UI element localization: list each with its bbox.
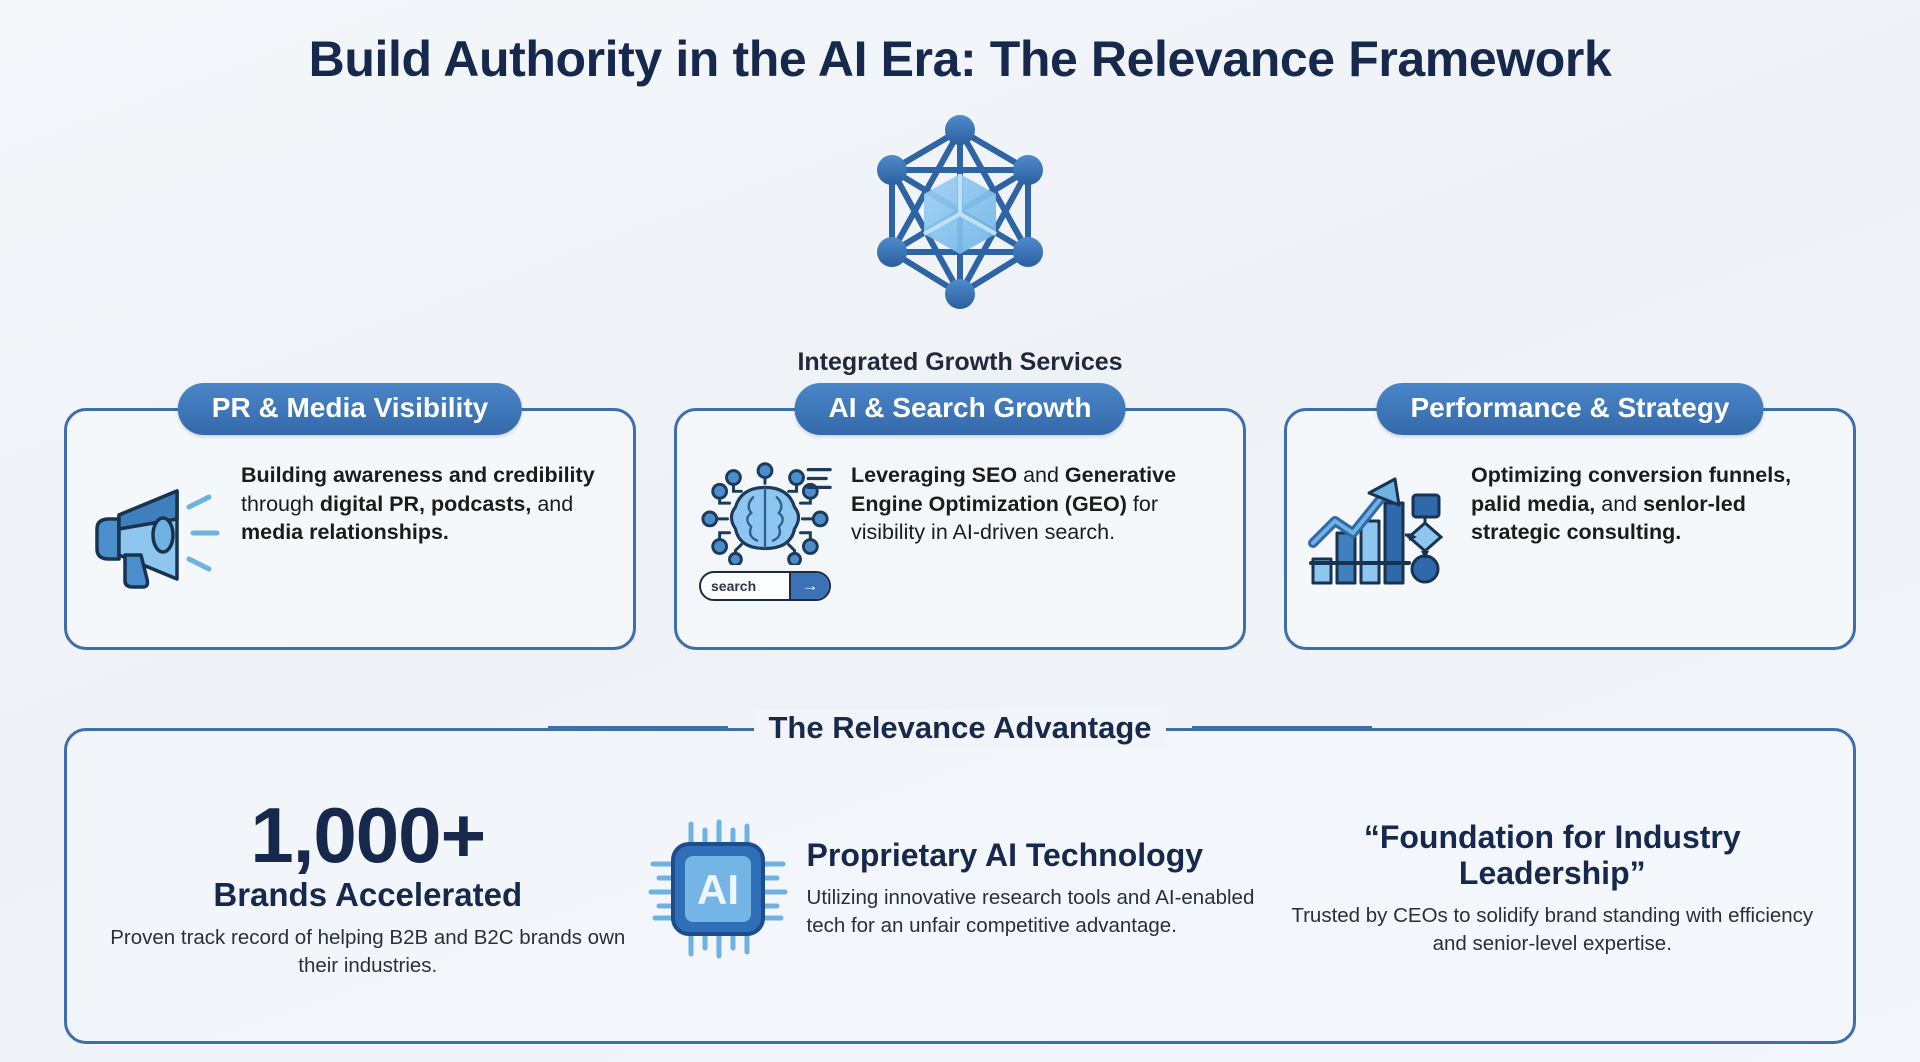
stat-label: Brands Accelerated xyxy=(97,876,639,914)
pillar-card-ai-search[interactable]: AI & Search Growth xyxy=(674,408,1246,650)
pillar-badge-label: PR & Media Visibility xyxy=(178,383,522,435)
pillar-description: Leveraging SEO and Generative Engine Opt… xyxy=(851,455,1223,547)
infographic-canvas: Build Authority in the AI Era: The Relev… xyxy=(0,0,1920,1062)
pillar-description: Building awareness and credibility throu… xyxy=(241,455,613,547)
pillar-card-row: PR & Media Visibility xyxy=(64,408,1856,650)
pillar-card-performance-strategy[interactable]: Performance & Strategy xyxy=(1284,408,1856,650)
ai-brain-circuit-icon: search → xyxy=(695,461,835,601)
search-input[interactable]: search → xyxy=(699,571,831,601)
ai-chip-icon: AI xyxy=(643,814,793,964)
pillar-badge-label: Performance & Strategy xyxy=(1376,383,1763,435)
divider-right xyxy=(1192,726,1372,730)
advantage-heading-label: The Relevance Advantage xyxy=(754,710,1165,746)
tech-description: Utilizing innovative research tools and … xyxy=(807,884,1282,940)
pillar-description: Optimizing conversion funnels, palid med… xyxy=(1471,455,1833,547)
pillar-badge-label: AI & Search Growth xyxy=(795,383,1126,435)
chip-label: AI xyxy=(697,866,739,913)
advantage-tech-block: AI Proprietary AI Technology Utilizing i… xyxy=(639,814,1282,964)
quote-heading: “Foundation for Industry Leadership” xyxy=(1282,820,1824,890)
page-title: Build Authority in the AI Era: The Relev… xyxy=(0,30,1920,88)
hub-label: Integrated Growth Services xyxy=(0,348,1920,377)
search-placeholder: search xyxy=(701,578,789,594)
divider-left xyxy=(548,726,728,730)
quote-description: Trusted by CEOs to solidify brand standi… xyxy=(1282,902,1824,958)
advantage-stat-block: 1,000+ Brands Accelerated Proven track r… xyxy=(97,798,639,980)
network-hub-icon xyxy=(860,112,1060,312)
stat-description: Proven track record of helping B2B and B… xyxy=(97,924,639,980)
tech-heading: Proprietary AI Technology xyxy=(807,838,1282,873)
stat-number: 1,000+ xyxy=(97,798,639,872)
pillar-card-pr-media[interactable]: PR & Media Visibility xyxy=(64,408,636,650)
advantage-quote-block: “Foundation for Industry Leadership” Tru… xyxy=(1282,820,1824,957)
megaphone-icon xyxy=(85,461,225,601)
arrow-right-icon[interactable]: → xyxy=(789,573,829,599)
advantage-panel: 1,000+ Brands Accelerated Proven track r… xyxy=(64,728,1856,1044)
growth-chart-flowchart-icon xyxy=(1305,461,1455,601)
advantage-heading: The Relevance Advantage xyxy=(0,710,1920,746)
